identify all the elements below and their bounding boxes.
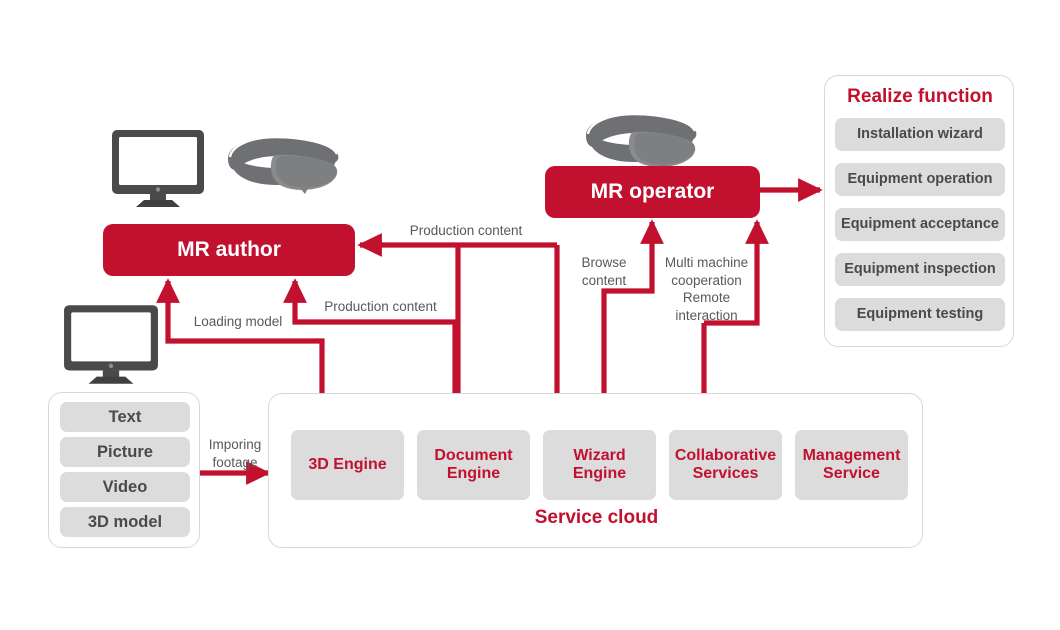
diagram-canvas: MR author MR operator Text Picture Video… (0, 0, 1060, 630)
realize-item-equipment-operation[interactable]: Equipment operation (835, 163, 1005, 196)
input-item-text[interactable]: Text (60, 402, 190, 432)
realize-item-label: Equipment acceptance (841, 216, 999, 232)
mr-author-label: MR author (177, 238, 281, 262)
desktop-monitor-icon (110, 128, 206, 210)
edge-label-production-content-lower: Production content (308, 298, 453, 316)
realize-item-installation-wizard[interactable]: Installation wizard (835, 118, 1005, 151)
input-label: 3D model (88, 513, 162, 531)
mr-headset-icon (222, 133, 342, 195)
service-label: 3D Engine (308, 456, 386, 474)
realize-item-label: Equipment operation (848, 171, 993, 187)
service-cloud-panel: 3D Engine Document Engine Wizard Engine … (268, 393, 923, 548)
input-label: Text (109, 408, 142, 426)
realize-function-title: Realize function (825, 86, 1015, 108)
edge-label-importing-footage: Imporing footage (198, 418, 272, 471)
realize-function-panel: Realize function Installation wizard Equ… (824, 75, 1014, 347)
realize-item-equipment-inspection[interactable]: Equipment inspection (835, 253, 1005, 286)
edge-label-browse-content: Browse content (569, 236, 639, 289)
service-label: Document Engine (434, 447, 512, 484)
service-cloud-label: Service cloud (269, 507, 924, 529)
edge-label-loading-model: Loading model (178, 313, 298, 331)
realize-item-label: Equipment inspection (844, 261, 995, 277)
realize-item-label: Installation wizard (857, 126, 983, 142)
inputs-panel: Text Picture Video 3D model (48, 392, 200, 548)
mr-operator-label: MR operator (591, 180, 715, 204)
mr-author-node[interactable]: MR author (103, 224, 355, 276)
service-label: Wizard Engine (573, 447, 626, 484)
mr-operator-node[interactable]: MR operator (545, 166, 760, 218)
desktop-monitor-icon (62, 303, 160, 387)
edge-label-production-content-upper: Production content (392, 222, 540, 240)
service-wizard-engine[interactable]: Wizard Engine (543, 430, 656, 500)
input-label: Picture (97, 443, 153, 461)
realize-item-equipment-testing[interactable]: Equipment testing (835, 298, 1005, 331)
input-label: Video (103, 478, 148, 496)
realize-item-equipment-acceptance[interactable]: Equipment acceptance (835, 208, 1005, 241)
input-item-3d-model[interactable]: 3D model (60, 507, 190, 537)
realize-item-label: Equipment testing (857, 306, 983, 322)
input-item-picture[interactable]: Picture (60, 437, 190, 467)
service-document-engine[interactable]: Document Engine (417, 430, 530, 500)
service-label: Collaborative Services (675, 447, 776, 484)
mr-headset-icon (580, 110, 700, 172)
service-management-service[interactable]: Management Service (795, 430, 908, 500)
input-item-video[interactable]: Video (60, 472, 190, 502)
edge-label-multi-machine: Multi machine cooperation Remote interac… (659, 236, 754, 325)
service-3d-engine[interactable]: 3D Engine (291, 430, 404, 500)
service-collaborative-services[interactable]: Collaborative Services (669, 430, 782, 500)
service-label: Management Service (803, 447, 901, 484)
